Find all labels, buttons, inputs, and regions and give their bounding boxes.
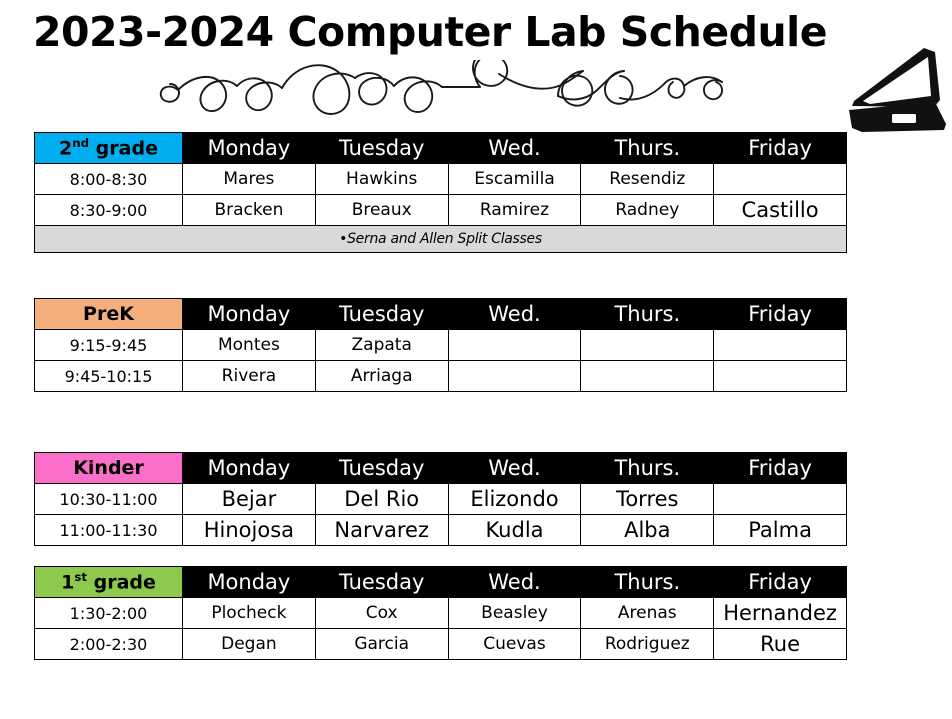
- empty-cell: [581, 361, 714, 392]
- day-header-monday: Monday: [183, 567, 316, 598]
- grade-label-rest: grade: [89, 138, 158, 160]
- day-header-thurs: Thurs.: [581, 299, 714, 330]
- day-header-tuesday: Tuesday: [315, 567, 448, 598]
- table-header-row: 2nd gradeMondayTuesdayWed.Thurs.Friday: [35, 133, 847, 164]
- table-header-row: PreKMondayTuesdayWed.Thurs.Friday: [35, 299, 847, 330]
- teacher-cell: Plocheck: [183, 598, 316, 629]
- teacher-cell: Bejar: [183, 484, 316, 515]
- teacher-cell: Narvarez: [315, 515, 448, 546]
- table-header-row: 1st gradeMondayTuesdayWed.Thurs.Friday: [35, 567, 847, 598]
- time-slot-cell: 2:00-2:30: [35, 629, 183, 660]
- empty-cell: [448, 361, 581, 392]
- day-header-monday: Monday: [183, 453, 316, 484]
- table-row: 11:00-11:30HinojosaNarvarezKudlaAlbaPalm…: [35, 515, 847, 546]
- teacher-cell: Cox: [315, 598, 448, 629]
- teacher-cell: Beasley: [448, 598, 581, 629]
- teacher-cell: Kudla: [448, 515, 581, 546]
- table-header-row: KinderMondayTuesdayWed.Thurs.Friday: [35, 453, 847, 484]
- teacher-cell: Palma: [714, 515, 847, 546]
- day-header-thurs: Thurs.: [581, 133, 714, 164]
- schedule-table-prek: PreKMondayTuesdayWed.Thurs.Friday9:15-9:…: [34, 298, 847, 392]
- teacher-cell: Arenas: [581, 598, 714, 629]
- teacher-cell: Elizondo: [448, 484, 581, 515]
- teacher-cell: Resendiz: [581, 164, 714, 195]
- teacher-cell: Alba: [581, 515, 714, 546]
- teacher-cell: Rodriguez: [581, 629, 714, 660]
- page-title: 2023-2024 Computer Lab Schedule: [0, 8, 860, 56]
- teacher-cell: Hawkins: [315, 164, 448, 195]
- day-header-tuesday: Tuesday: [315, 453, 448, 484]
- teacher-cell: Hinojosa: [183, 515, 316, 546]
- empty-cell: [714, 330, 847, 361]
- time-slot-cell: 8:30-9:00: [35, 195, 183, 226]
- day-header-monday: Monday: [183, 133, 316, 164]
- teacher-cell: Garcia: [315, 629, 448, 660]
- teacher-cell: Torres: [581, 484, 714, 515]
- day-header-tuesday: Tuesday: [315, 299, 448, 330]
- day-header-wed: Wed.: [448, 567, 581, 598]
- grade-label-ordinal: nd: [72, 136, 89, 150]
- teacher-cell: Escamilla: [448, 164, 581, 195]
- empty-cell: [714, 484, 847, 515]
- teacher-cell: Zapata: [315, 330, 448, 361]
- teacher-cell: Cuevas: [448, 629, 581, 660]
- teacher-cell: Castillo: [714, 195, 847, 226]
- grade-label-cell: 1st grade: [35, 567, 183, 598]
- teacher-cell: Mares: [183, 164, 316, 195]
- day-header-friday: Friday: [714, 299, 847, 330]
- table-row: 8:30-9:00BrackenBreauxRamirezRadneyCasti…: [35, 195, 847, 226]
- day-header-wed: Wed.: [448, 299, 581, 330]
- teacher-cell: Del Rio: [315, 484, 448, 515]
- split-classes-note: •Serna and Allen Split Classes: [35, 226, 847, 253]
- day-header-friday: Friday: [714, 453, 847, 484]
- time-slot-cell: 8:00-8:30: [35, 164, 183, 195]
- swirl-divider-icon: [148, 60, 756, 116]
- time-slot-cell: 9:15-9:45: [35, 330, 183, 361]
- teacher-cell: Breaux: [315, 195, 448, 226]
- table-row: 2:00-2:30DeganGarciaCuevasRodriguezRue: [35, 629, 847, 660]
- empty-cell: [581, 330, 714, 361]
- day-header-thurs: Thurs.: [581, 453, 714, 484]
- teacher-cell: Hernandez: [714, 598, 847, 629]
- table-row: 1:30-2:00PlocheckCoxBeasleyArenasHernand…: [35, 598, 847, 629]
- day-header-monday: Monday: [183, 299, 316, 330]
- table-row: 9:15-9:45MontesZapata: [35, 330, 847, 361]
- teacher-cell: Rue: [714, 629, 847, 660]
- schedule-table-kinder: KinderMondayTuesdayWed.Thurs.Friday10:30…: [34, 452, 847, 546]
- day-header-tuesday: Tuesday: [315, 133, 448, 164]
- empty-cell: [714, 361, 847, 392]
- teacher-cell: Bracken: [183, 195, 316, 226]
- day-header-thurs: Thurs.: [581, 567, 714, 598]
- day-header-wed: Wed.: [448, 133, 581, 164]
- grade-label-cell: Kinder: [35, 453, 183, 484]
- table-note-row: •Serna and Allen Split Classes: [35, 226, 847, 253]
- teacher-cell: Radney: [581, 195, 714, 226]
- table-row: 8:00-8:30MaresHawkinsEscamillaResendiz: [35, 164, 847, 195]
- table-row: 10:30-11:00BejarDel RioElizondoTorres: [35, 484, 847, 515]
- time-slot-cell: 9:45-10:15: [35, 361, 183, 392]
- table-row: 9:45-10:15RiveraArriaga: [35, 361, 847, 392]
- empty-cell: [448, 330, 581, 361]
- day-header-friday: Friday: [714, 133, 847, 164]
- grade-label-cell: PreK: [35, 299, 183, 330]
- grade-label-main: 1: [61, 572, 74, 594]
- grade-label-ordinal: st: [74, 570, 87, 584]
- page-header: 2023-2024 Computer Lab Schedule: [0, 0, 952, 120]
- time-slot-cell: 11:00-11:30: [35, 515, 183, 546]
- grade-label-rest: grade: [87, 572, 156, 594]
- day-header-wed: Wed.: [448, 453, 581, 484]
- schedule-table-2nd: 2nd gradeMondayTuesdayWed.Thurs.Friday8:…: [34, 132, 847, 253]
- day-header-friday: Friday: [714, 567, 847, 598]
- teacher-cell: Rivera: [183, 361, 316, 392]
- teacher-cell: Ramirez: [448, 195, 581, 226]
- teacher-cell: Arriaga: [315, 361, 448, 392]
- teacher-cell: Degan: [183, 629, 316, 660]
- laptop-icon: [836, 44, 948, 140]
- time-slot-cell: 1:30-2:00: [35, 598, 183, 629]
- grade-label-main: 2: [59, 138, 72, 160]
- grade-label-cell: 2nd grade: [35, 133, 183, 164]
- time-slot-cell: 10:30-11:00: [35, 484, 183, 515]
- teacher-cell: Montes: [183, 330, 316, 361]
- empty-cell: [714, 164, 847, 195]
- schedule-table-1st: 1st gradeMondayTuesdayWed.Thurs.Friday1:…: [34, 566, 847, 660]
